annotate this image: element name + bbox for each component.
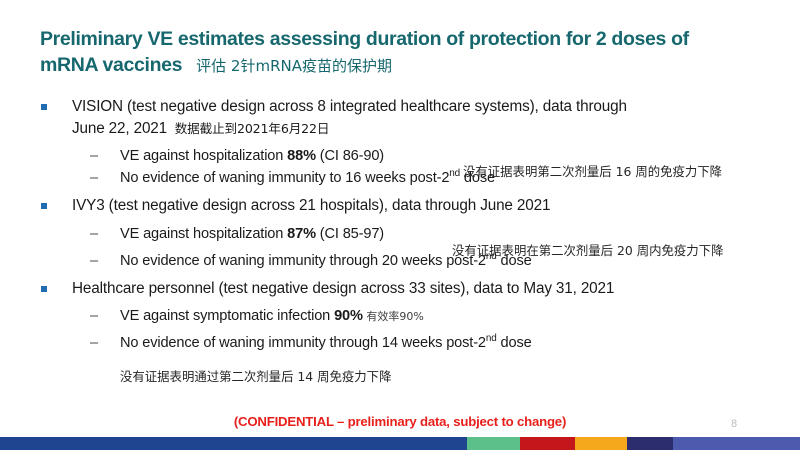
stat-ve-90: 90% [334,308,363,324]
bullet-ivy3: IVY3 (test negative design across 21 hos… [38,195,798,217]
stat-ve-87: 87% [287,226,316,242]
slide-body: VISION (test negative design across 8 in… [38,96,798,355]
bullet-vision-line2: June 22, 2021 [72,120,167,137]
bullet-healthcare-personnel: Healthcare personnel (test negative desi… [38,278,798,300]
subbullet-vision-ve-prefix: VE against hospitalization [120,148,287,164]
subbullet-hcp-ve: – VE against symptomatic infection 90% 有… [38,306,798,327]
chinese-annotation-20-weeks: 没有证据表明在第二次剂量后 20 周内免疫力下降 [452,241,723,259]
slide-canvas: Preliminary VE estimates assessing durat… [0,0,800,450]
dash-bullet-icon: – [90,168,98,189]
subbullet-ivy3-ve-ci: (CI 85-97) [316,226,384,242]
subbullet-hcp-waning-text: No evidence of waning immunity through 1… [120,335,486,351]
color-bar-segment-blue [0,437,467,450]
color-bar-segment-orange [575,437,627,450]
dash-bullet-icon: – [90,224,98,245]
slide-title: Preliminary VE estimates assessing durat… [40,26,770,79]
ordinal-suffix: nd [449,168,460,179]
dash-bullet-icon: – [90,146,98,167]
subbullet-hcp-ve-prefix: VE against symptomatic infection [120,308,334,324]
title-line-2: mRNA vaccines评估 2针mRNA疫苗的保护期 [40,52,770,79]
subbullet-hcp-waning-tail: dose [497,335,532,351]
color-bar-segment-periwinkle [673,437,800,450]
confidential-notice: (CONFIDENTIAL – preliminary data, subjec… [0,414,800,429]
square-bullet-icon [41,203,47,209]
subbullet-hcp-ve-chinese: 有效率90% [363,310,424,323]
title-chinese-subtitle: 评估 2针mRNA疫苗的保护期 [182,57,392,75]
bullet-vision: VISION (test negative design across 8 in… [38,96,798,139]
dash-bullet-icon: – [90,333,98,354]
stat-ve-88: 88% [287,148,316,164]
bullet-vision-line1: VISION (test negative design across 8 in… [72,98,627,115]
bottom-color-bar [0,437,800,450]
bullet-vision-chinese: 数据截止到2021年6月22日 [167,121,329,136]
dash-bullet-icon: – [90,251,98,272]
subbullet-hcp-waning: – No evidence of waning immunity through… [38,333,798,354]
subbullet-ivy3-waning-text: No evidence of waning immunity through 2… [120,253,486,269]
title-line-1: Preliminary VE estimates assessing durat… [40,26,770,52]
chinese-annotation-16-weeks: 没有证据表明第二次剂量后 16 周的免疫力下降 [463,162,722,180]
bullet-healthcare-personnel-text: Healthcare personnel (test negative desi… [72,280,614,297]
dash-bullet-icon: – [90,306,98,327]
title-line-2-text: mRNA vaccines [40,54,182,76]
page-number: 8 [731,418,737,430]
square-bullet-icon [41,286,47,292]
color-bar-segment-red [520,437,575,450]
subbullet-vision-ve-ci: (CI 86-90) [316,148,384,164]
square-bullet-icon [41,104,47,110]
subbullet-vision-waning-text: No evidence of waning immunity to 16 wee… [120,170,449,186]
subbullet-ivy3-ve-prefix: VE against hospitalization [120,226,287,242]
bullet-ivy3-text: IVY3 (test negative design across 21 hos… [72,197,550,214]
ordinal-suffix: nd [486,333,497,344]
color-bar-segment-green [467,437,520,450]
color-bar-segment-navy [627,437,673,450]
chinese-annotation-14-weeks: 没有证据表明通过第二次剂量后 14 周免疫力下降 [120,367,391,385]
